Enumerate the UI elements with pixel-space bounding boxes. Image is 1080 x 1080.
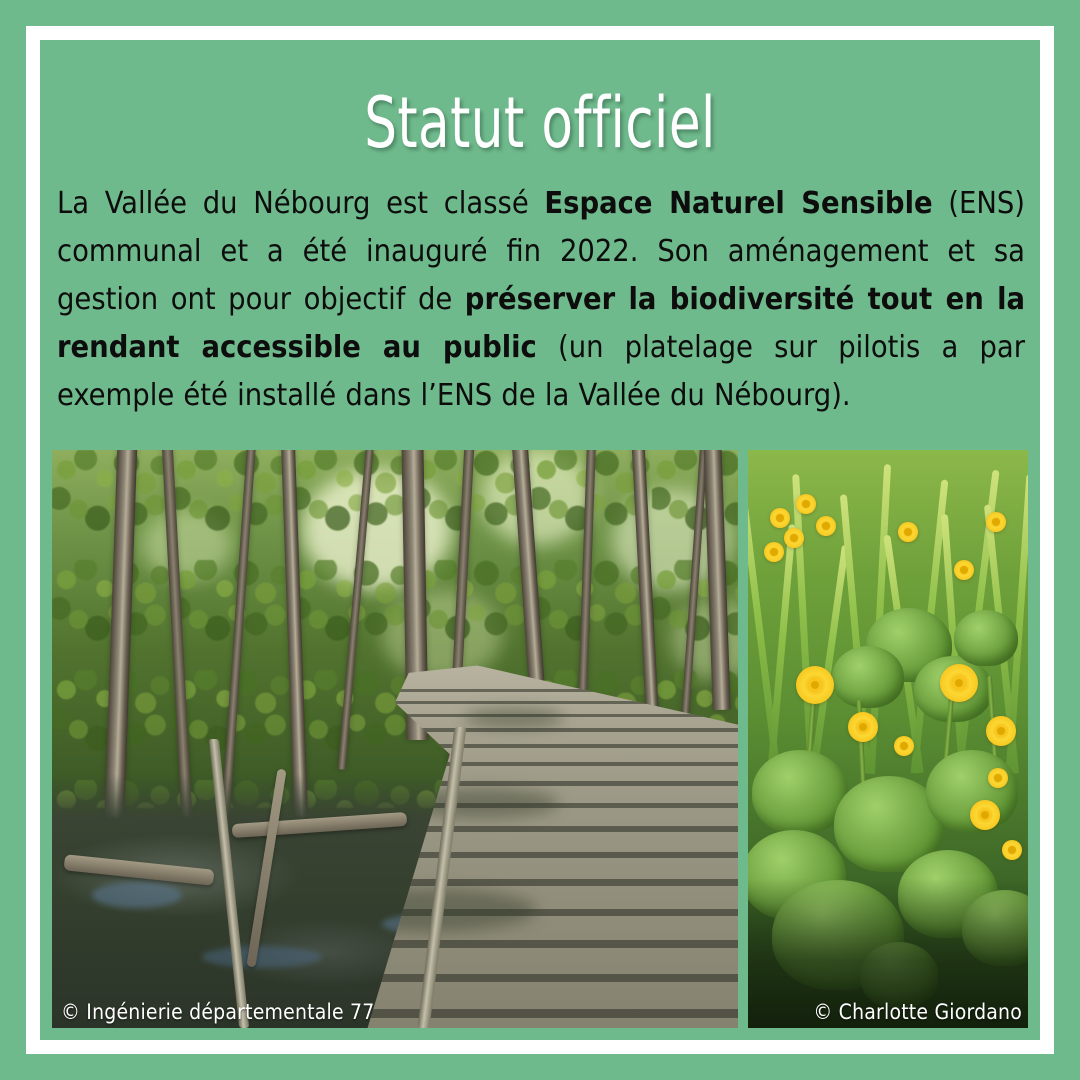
page-title: Statut officiel — [130, 88, 950, 158]
body-segment-2-bold: Espace Naturel Sensible — [544, 186, 932, 221]
marigold-flower — [784, 528, 804, 548]
marigold-flower — [894, 736, 914, 756]
marigold-flower — [796, 494, 816, 514]
marigold-leaf — [832, 646, 904, 708]
boardwalk-rail-left — [208, 739, 248, 1028]
photo-marsh-marigolds: © Charlotte Giordano — [748, 450, 1028, 1028]
dappled-shadow — [464, 708, 564, 728]
marigold-flower — [986, 716, 1016, 746]
photo-row: © Ingénierie départementale 77 — [52, 450, 1028, 1028]
dappled-shadow — [258, 746, 378, 770]
deck-plank — [52, 974, 738, 982]
deck-plank — [52, 781, 738, 786]
dappled-shadow — [175, 826, 335, 860]
poster-root: Statut officiel La Vallée du Nébourg est… — [0, 0, 1080, 1080]
marigold-flower — [796, 666, 834, 704]
deck-plank — [52, 714, 738, 717]
deck-plank — [52, 852, 738, 858]
photo-credit-right: © Charlotte Giordano — [813, 1000, 1022, 1024]
deck-plank — [52, 728, 738, 732]
marigold-flower — [986, 512, 1006, 532]
deck-plank — [52, 689, 738, 692]
deck-plank — [52, 701, 738, 704]
body-segment-1: La Vallée du Nébourg est classé — [57, 186, 544, 221]
marigold-flower — [988, 768, 1008, 788]
photo-boardwalk: © Ingénierie départementale 77 — [52, 450, 738, 1028]
dappled-shadow — [409, 788, 559, 818]
deck-plank — [52, 826, 738, 832]
marigold-flower — [816, 516, 836, 536]
boardwalk — [52, 450, 738, 1028]
body-paragraph: La Vallée du Nébourg est classé Espace N… — [57, 180, 1025, 420]
deck-plank — [52, 762, 738, 766]
poster-content-area: Statut officiel La Vallée du Nébourg est… — [40, 40, 1040, 1040]
marigold-flower — [898, 522, 918, 542]
dappled-shadow — [107, 950, 297, 998]
marsh-scene-illustration — [748, 450, 1028, 1028]
marigold-flower — [764, 542, 784, 562]
marigold-flower — [1002, 840, 1022, 860]
deck-plank — [52, 940, 738, 948]
marigold-leaf — [954, 610, 1018, 666]
forest-scene-illustration — [52, 450, 738, 1028]
marigold-flower — [940, 664, 978, 702]
marigold-flower — [954, 560, 974, 580]
deck-plank — [52, 803, 738, 808]
marigold-flower — [848, 712, 878, 742]
deck-plank — [52, 879, 738, 886]
marigold-flower — [970, 800, 1000, 830]
deck-plank — [52, 909, 738, 916]
deck-plank — [52, 744, 738, 748]
photo-credit-left: © Ingénierie départementale 77 — [61, 1000, 374, 1024]
boardwalk-deck — [52, 658, 738, 1028]
marigold-flower — [770, 508, 790, 528]
